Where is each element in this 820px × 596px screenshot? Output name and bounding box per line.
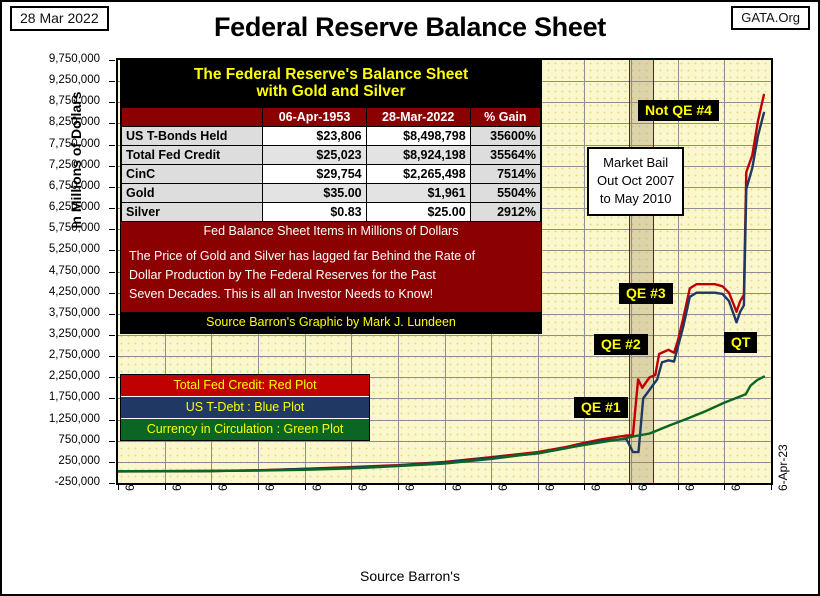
x-tick-mark [724, 485, 725, 490]
y-tick-mark [109, 377, 115, 378]
row-old-value: $29,754 [263, 164, 366, 183]
callout-line2: Out Oct 2007 [597, 172, 674, 190]
y-tick-mark [109, 229, 115, 230]
y-tick-label: 8,250,000 [2, 116, 100, 128]
legend-item-blue: US T-Debt : Blue Plot [121, 397, 369, 419]
row-label: CinC [122, 164, 263, 183]
row-label: US T-Bonds Held [122, 126, 263, 145]
balance-sheet-table: 06-Apr-1953 28-Mar-2022 % Gain US T-Bond… [121, 107, 541, 222]
y-tick-label: 4,750,000 [2, 265, 100, 277]
y-tick-label: 5,250,000 [2, 243, 100, 255]
table-row: Silver$0.83$25.002912% [122, 202, 541, 221]
info-paragraph-line3: Seven Decades. This is all an Investor N… [129, 285, 533, 304]
y-tick-mark [109, 60, 115, 61]
y-tick-label: 250,000 [2, 455, 100, 467]
y-tick-label: 7,250,000 [2, 159, 100, 171]
y-tick-label: 9,250,000 [2, 74, 100, 86]
annotation-qe3: QE #3 [619, 283, 673, 304]
y-tick-label: 6,750,000 [2, 180, 100, 192]
x-tick-mark [258, 485, 259, 490]
y-tick-label: -250,000 [2, 476, 100, 488]
y-tick-label: 8,750,000 [2, 95, 100, 107]
info-paragraph: The Price of Gold and Silver has lagged … [121, 241, 541, 312]
y-tick-label: 2,750,000 [2, 349, 100, 361]
x-axis-title: Source Barron's [2, 568, 818, 584]
y-tick-mark [109, 335, 115, 336]
y-tick-label: 4,250,000 [2, 286, 100, 298]
callout-line1: Market Bail [597, 154, 674, 172]
info-source: Source Barron's Graphic by Mark J. Lunde… [121, 312, 541, 333]
y-tick-mark [109, 187, 115, 188]
y-tick-label: 1,250,000 [2, 413, 100, 425]
y-tick-label: 2,250,000 [2, 370, 100, 382]
y-tick-label: 750,000 [2, 434, 100, 446]
row-old-value: $0.83 [263, 202, 366, 221]
y-tick-mark [109, 462, 115, 463]
info-subtitle: Fed Balance Sheet Items in Millions of D… [121, 222, 541, 241]
y-tick-mark [109, 483, 115, 484]
row-gain: 5504% [470, 183, 540, 202]
table-row: Total Fed Credit$25,023$8,924,19835564% [122, 145, 541, 164]
annotation-qe1: QE #1 [574, 397, 628, 418]
annotation-qe2: QE #2 [594, 334, 648, 355]
y-tick-mark [109, 145, 115, 146]
row-new-value: $8,498,798 [366, 126, 470, 145]
row-gain: 2912% [470, 202, 540, 221]
callout-line3: to May 2010 [597, 190, 674, 208]
row-label: Silver [122, 202, 263, 221]
col-header-gain: % Gain [470, 107, 540, 126]
chart-legend: Total Fed Credit: Red PlotUS T-Debt : Bl… [120, 374, 370, 441]
info-paragraph-line2: Dollar Production by The Federal Reserve… [129, 266, 533, 285]
y-tick-mark [109, 102, 115, 103]
x-tick-mark [445, 485, 446, 490]
y-tick-label: 9,750,000 [2, 53, 100, 65]
x-tick-mark [305, 485, 306, 490]
x-tick-mark [351, 485, 352, 490]
x-tick-label: 6-Apr-23 [776, 444, 790, 491]
row-gain: 35600% [470, 126, 540, 145]
page-title: Federal Reserve Balance Sheet [2, 12, 818, 43]
x-tick-mark [398, 485, 399, 490]
y-tick-mark [109, 441, 115, 442]
y-tick-mark [109, 272, 115, 273]
x-tick-mark [165, 485, 166, 490]
row-gain: 7514% [470, 164, 540, 183]
y-tick-label: 7,750,000 [2, 138, 100, 150]
y-tick-label: 5,750,000 [2, 222, 100, 234]
y-tick-mark [109, 250, 115, 251]
info-panel-title: The Federal Reserve's Balance Sheet with… [121, 61, 541, 107]
y-tick-mark [109, 293, 115, 294]
col-header-old: 06-Apr-1953 [263, 107, 366, 126]
y-tick-label: 1,750,000 [2, 391, 100, 403]
col-header-blank [122, 107, 263, 126]
x-tick-mark [631, 485, 632, 490]
row-gain: 35564% [470, 145, 540, 164]
info-panel: The Federal Reserve's Balance Sheet with… [120, 60, 542, 334]
table-row: Gold$35.00$1,9615504% [122, 183, 541, 202]
info-paragraph-line1: The Price of Gold and Silver has lagged … [129, 247, 533, 266]
x-tick-mark [491, 485, 492, 490]
x-tick-mark [118, 485, 119, 490]
row-new-value: $1,961 [366, 183, 470, 202]
y-tick-label: 3,750,000 [2, 307, 100, 319]
x-tick-mark [678, 485, 679, 490]
y-tick-mark [109, 398, 115, 399]
y-tick-mark [109, 208, 115, 209]
y-tick-mark [109, 123, 115, 124]
table-row: US T-Bonds Held$23,806$8,498,79835600% [122, 126, 541, 145]
table-row: CinC$29,754$2,265,4987514% [122, 164, 541, 183]
col-header-new: 28-Mar-2022 [366, 107, 470, 126]
x-tick-mark [538, 485, 539, 490]
row-label: Gold [122, 183, 263, 202]
y-tick-mark [109, 166, 115, 167]
row-old-value: $25,023 [263, 145, 366, 164]
x-tick-mark [211, 485, 212, 490]
table-header-row: 06-Apr-1953 28-Mar-2022 % Gain [122, 107, 541, 126]
row-new-value: $8,924,198 [366, 145, 470, 164]
annotation-qt: QT [724, 332, 757, 353]
row-old-value: $35.00 [263, 183, 366, 202]
y-tick-mark [109, 314, 115, 315]
row-new-value: $25.00 [366, 202, 470, 221]
legend-item-red: Total Fed Credit: Red Plot [121, 375, 369, 397]
row-label: Total Fed Credit [122, 145, 263, 164]
y-tick-mark [109, 81, 115, 82]
y-tick-mark [109, 356, 115, 357]
info-title-line1: The Federal Reserve's Balance Sheet [125, 66, 537, 83]
x-tick-mark [771, 485, 772, 490]
row-new-value: $2,265,498 [366, 164, 470, 183]
row-old-value: $23,806 [263, 126, 366, 145]
y-tick-label: 6,250,000 [2, 201, 100, 213]
y-tick-mark [109, 420, 115, 421]
annotation-not-qe4: Not QE #4 [638, 100, 719, 121]
legend-item-green: Currency in Circulation : Green Plot [121, 419, 369, 440]
x-tick-mark [584, 485, 585, 490]
y-tick-label: 3,250,000 [2, 328, 100, 340]
market-bailout-callout: Market Bail Out Oct 2007 to May 2010 [587, 147, 684, 216]
info-title-line2: with Gold and Silver [125, 83, 537, 100]
